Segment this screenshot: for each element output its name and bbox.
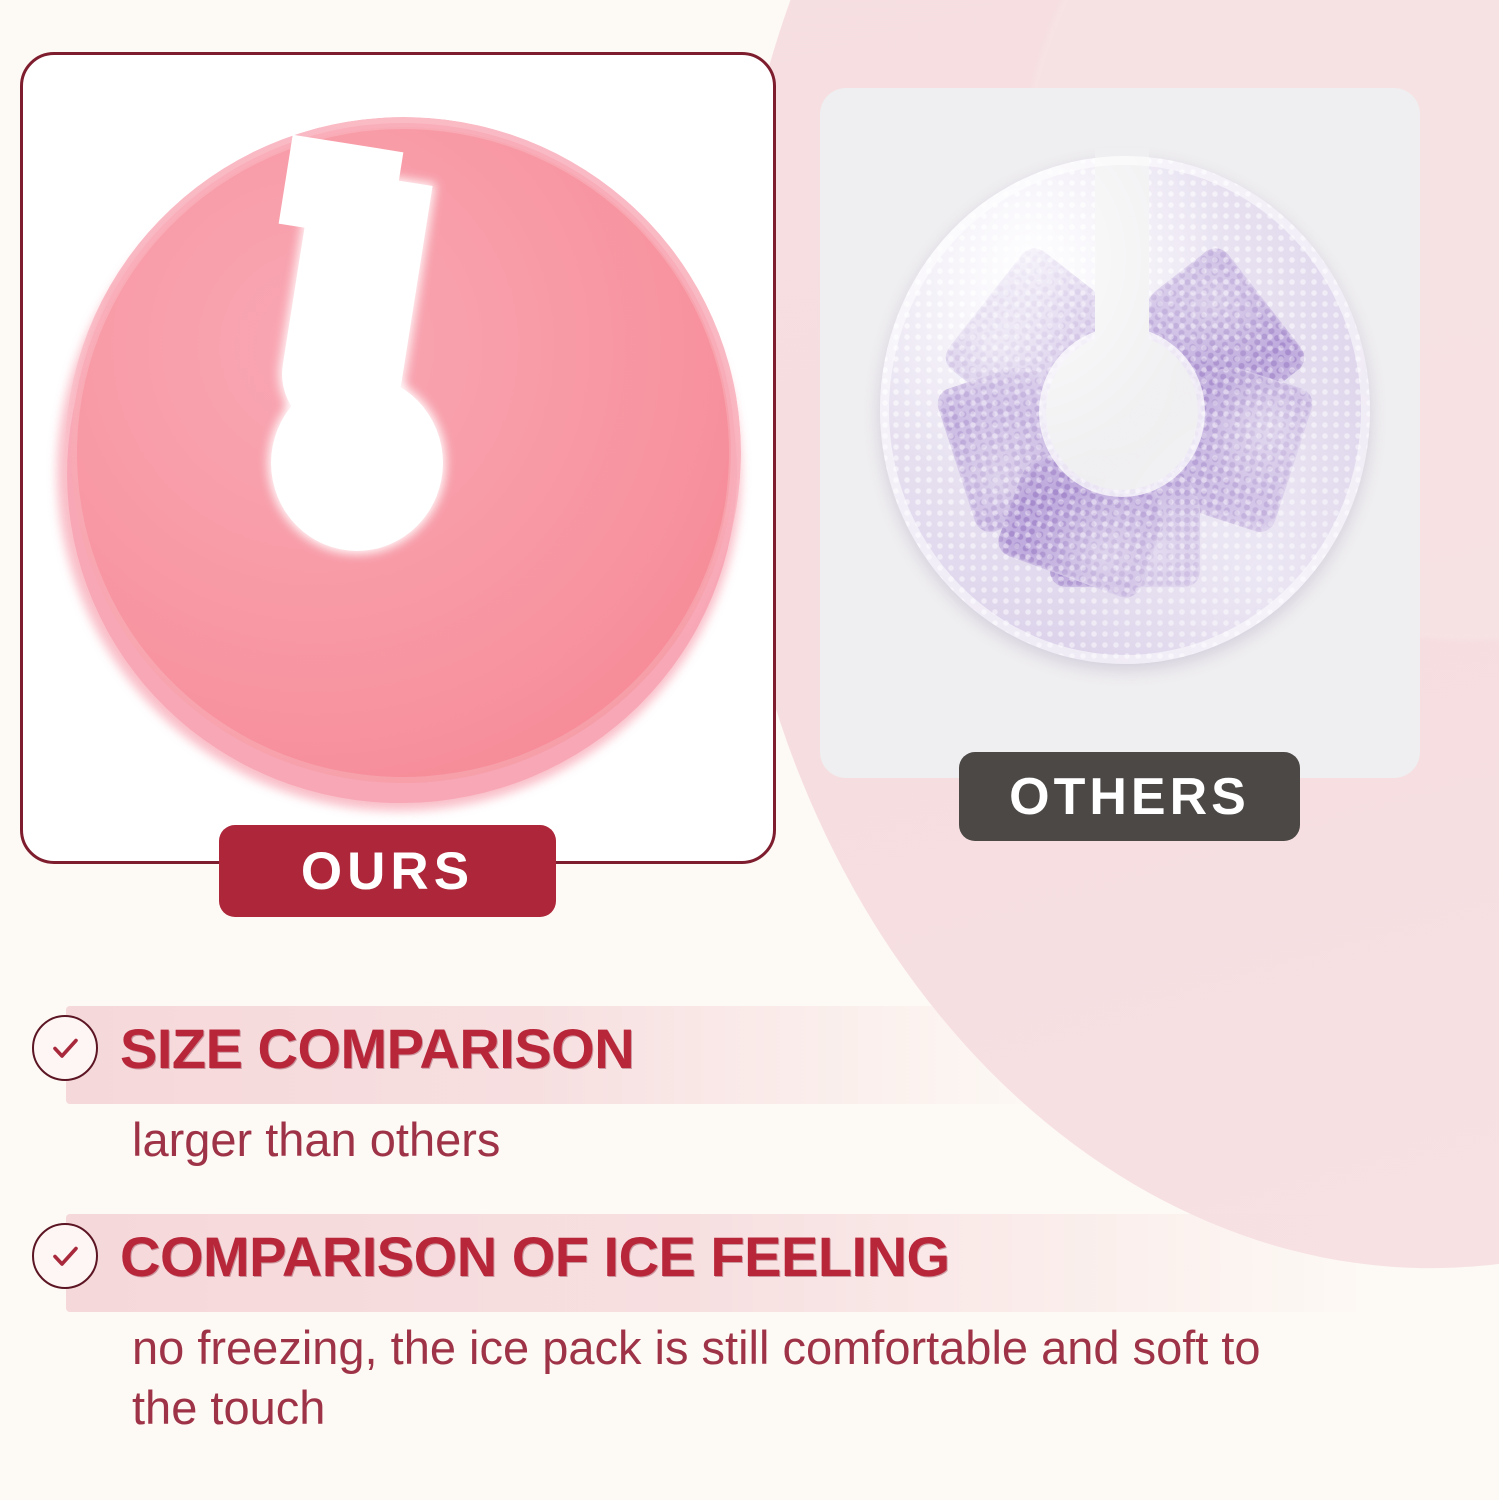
others-product-image	[880, 156, 1370, 664]
feature-title: SIZE COMPARISON	[120, 1016, 634, 1081]
ours-product-card	[20, 52, 776, 864]
check-circle-icon	[32, 1223, 98, 1289]
feature-heading-row: COMPARISON OF ICE FEELING	[0, 1208, 1499, 1304]
pad-notch-hole	[271, 375, 443, 551]
feature-heading-row: SIZE COMPARISON	[0, 1000, 1499, 1096]
gel-top-slit	[1095, 148, 1149, 378]
feature-list: SIZE COMPARISON larger than others COMPA…	[0, 1000, 1499, 1476]
product-comparison-infographic: OURS OTHERS SIZE COMPARISON larger than …	[0, 0, 1499, 1500]
feature-title: COMPARISON OF ICE FEELING	[120, 1224, 950, 1289]
feature-item: COMPARISON OF ICE FEELING no freezing, t…	[0, 1208, 1499, 1438]
feature-body: no freezing, the ice pack is still comfo…	[132, 1318, 1312, 1438]
feature-body: larger than others	[132, 1110, 1312, 1170]
others-product-panel	[820, 88, 1420, 778]
ours-product-image	[49, 113, 749, 813]
ours-badge: OURS	[219, 825, 556, 917]
others-badge: OTHERS	[959, 752, 1300, 841]
check-circle-icon	[32, 1015, 98, 1081]
feature-item: SIZE COMPARISON larger than others	[0, 1000, 1499, 1170]
